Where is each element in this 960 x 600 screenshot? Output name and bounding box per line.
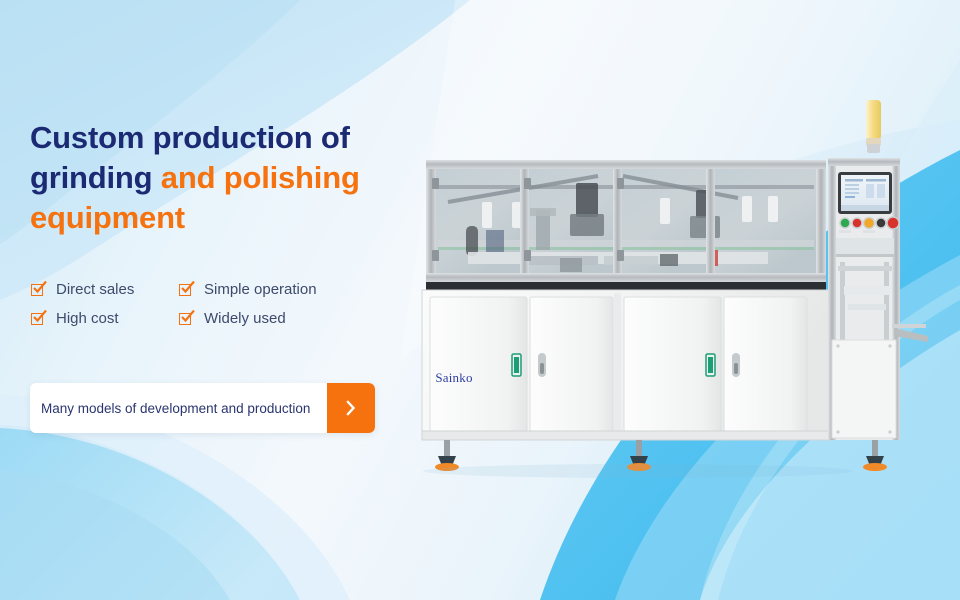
feature-label: Widely used [204, 310, 286, 327]
chevron-right-icon[interactable] [327, 383, 375, 433]
feature-list: Direct sales Simple operation High cost … [31, 281, 391, 327]
feature-item-high-cost: High cost [31, 310, 179, 327]
checkbox-checked-icon [179, 311, 194, 326]
headline-line-1: Custom production of [30, 120, 350, 155]
control-column [828, 158, 928, 440]
hmi-screen [838, 172, 892, 214]
feature-item-widely-used: Widely used [179, 310, 391, 327]
hero-copy: Custom production of grinding and polish… [30, 118, 430, 238]
headline-line-3-accent: equipment [30, 200, 185, 235]
checkbox-checked-icon [31, 311, 46, 326]
feature-label: High cost [56, 310, 119, 327]
feature-label: Direct sales [56, 281, 134, 298]
product-image [408, 90, 928, 480]
feature-label: Simple operation [204, 281, 317, 298]
feature-item-simple-operation: Simple operation [179, 281, 391, 298]
feature-item-direct-sales: Direct sales [31, 281, 179, 298]
page-title: Custom production of grinding and polish… [30, 118, 430, 238]
cta-button[interactable]: Many models of development and productio… [30, 383, 375, 433]
headline-line-2-accent: and polishing [161, 160, 360, 195]
cta-label: Many models of development and productio… [30, 383, 327, 433]
lower-cabinet [422, 290, 830, 440]
checkbox-checked-icon [31, 282, 46, 297]
checkbox-checked-icon [179, 282, 194, 297]
headline-line-2-dark: grinding [30, 160, 161, 195]
hero-banner: Sainko Custom production of grinding and… [0, 0, 960, 600]
